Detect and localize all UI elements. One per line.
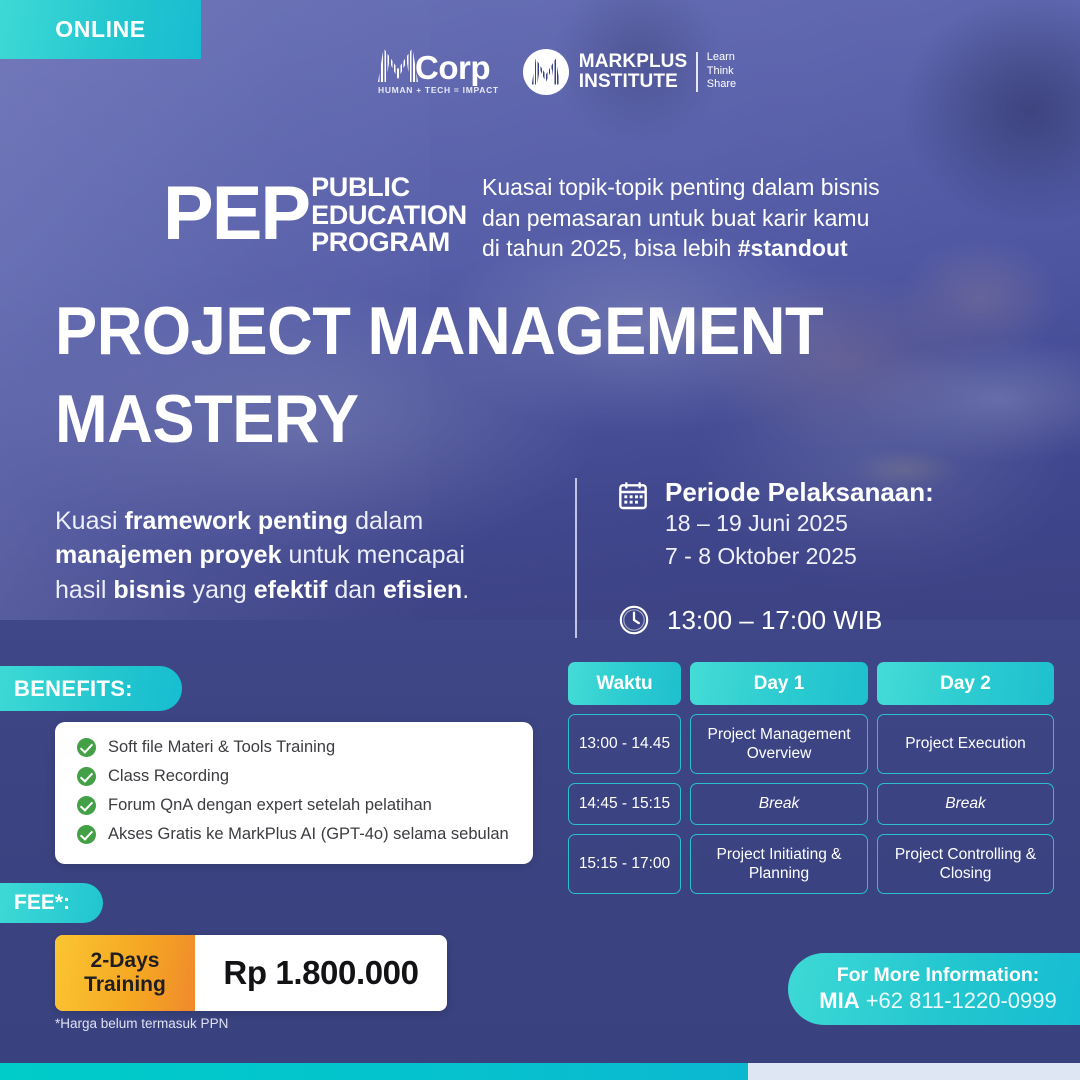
desc-bold-5: efisien [383, 576, 462, 604]
contact-pill[interactable]: For More Information: MIA +62 811-1220-0… [788, 953, 1080, 1025]
headline-tagline: Kuasai topik-topik penting dalam bisnis … [482, 172, 922, 264]
mcorp-logo: Corp HUMAN + TECH = IMPACT [378, 48, 499, 95]
cell-day1: Project Initiating & Planning [690, 834, 868, 894]
program-acronym-block: PEP PUBLIC EDUCATION PROGRAM [163, 172, 467, 257]
fee-price: Rp 1.800.000 [195, 935, 447, 1011]
markplus-value-2: Think [707, 65, 736, 78]
benefit-text: Forum QnA dengan expert setelah pelatiha… [108, 796, 432, 815]
cell-day2: Project Execution [877, 714, 1054, 774]
markplus-name-line1: MARKPLUS [579, 52, 687, 71]
mcorp-tagline: HUMAN + TECH = IMPACT [378, 85, 499, 95]
list-item: Akses Gratis ke MarkPlus AI (GPT-4o) sel… [77, 825, 515, 844]
cell-day1: Break [690, 783, 868, 825]
cell-day1: Project Management Overview [690, 714, 868, 774]
program-acronym: PEP [163, 183, 309, 245]
markplus-institute-logo: MARKPLUS INSTITUTE Learn Think Share [523, 49, 736, 95]
period-block: Periode Pelaksanaan: 18 – 19 Juni 2025 7… [575, 478, 1080, 637]
fee-duration-badge: 2-Days Training [55, 935, 195, 1011]
fee-card: 2-Days Training Rp 1.800.000 [55, 935, 447, 1011]
period-time: 13:00 – 17:00 WIB [667, 607, 882, 633]
program-expansion: PUBLIC EDUCATION PROGRAM [311, 174, 467, 257]
fee-label: FEE*: [14, 891, 70, 915]
markplus-badge-circle [523, 49, 569, 95]
tagline-line1: Kuasai topik-topik penting dalam bisnis [482, 172, 922, 203]
desc-part-1: Kuasi [55, 507, 124, 535]
program-expansion-line2: EDUCATION [311, 202, 467, 230]
markplus-value-3: Share [707, 78, 736, 91]
mcorp-wordmark: Corp [415, 54, 490, 82]
benefits-label-pill: BENEFITS: [0, 666, 182, 711]
fee-note: *Harga belum termasuk PPN [55, 1016, 228, 1031]
benefit-text: Akses Gratis ke MarkPlus AI (GPT-4o) sel… [108, 825, 509, 844]
cell-day2: Project Controlling & Closing [877, 834, 1054, 894]
table-header-day1: Day 1 [690, 662, 868, 705]
benefit-text: Class Recording [108, 767, 229, 786]
list-item: Soft file Materi & Tools Training [77, 738, 515, 757]
cell-day2: Break [877, 783, 1054, 825]
tagline-line3-text: di tahun 2025, bisa lebih [482, 235, 738, 261]
logo-divider [696, 52, 698, 92]
check-circle-icon [77, 738, 96, 757]
cell-time: 14:45 - 15:15 [568, 783, 681, 825]
calendar-icon [617, 480, 649, 512]
schedule-table: Waktu Day 1 Day 2 13:00 - 14.45 Project … [568, 662, 1048, 903]
table-header-waktu: Waktu [568, 662, 681, 705]
markplus-m-icon [532, 59, 560, 85]
desc-bold-3: bisnis [113, 576, 185, 604]
benefit-text: Soft file Materi & Tools Training [108, 738, 335, 757]
fee-label-pill: FEE*: [0, 883, 103, 923]
list-item: Class Recording [77, 767, 515, 786]
cell-time: 13:00 - 14.45 [568, 714, 681, 774]
check-circle-icon [77, 767, 96, 786]
poster-canvas: ONLINE Corp HUMAN + TECH = IMPACT MARKPL… [0, 0, 1080, 1080]
period-date-1: 18 – 19 Juni 2025 [665, 507, 934, 540]
page-title: PROJECT MANAGEMENT MASTERY [55, 287, 873, 464]
list-item: Forum QnA dengan expert setelah pelatiha… [77, 796, 515, 815]
desc-bold-4: efektif [254, 576, 328, 604]
table-row: 13:00 - 14.45 Project Management Overvie… [568, 714, 1048, 774]
online-badge: ONLINE [0, 0, 201, 59]
fee-duration-line2: Training [84, 973, 166, 997]
mcorp-m-icon [378, 48, 418, 82]
tagline-line2: dan pemasaran untuk buat karir kamu [482, 203, 922, 234]
bottom-bar-teal [0, 1063, 748, 1080]
period-heading: Periode Pelaksanaan: [665, 478, 934, 507]
desc-part-2: dalam [348, 507, 423, 535]
cell-time: 15:15 - 17:00 [568, 834, 681, 894]
logo-group: Corp HUMAN + TECH = IMPACT MARKPLUS INST… [378, 48, 736, 95]
benefits-label: BENEFITS: [14, 676, 133, 702]
program-expansion-line3: PROGRAM [311, 229, 467, 257]
contact-person: MIA [819, 988, 859, 1013]
clock-icon [617, 603, 651, 637]
desc-bold-2: manajemen proyek [55, 541, 282, 569]
contact-phone[interactable]: +62 811-1220-0999 [866, 988, 1057, 1013]
check-circle-icon [77, 825, 96, 844]
contact-line: MIA +62 811-1220-0999 [819, 987, 1057, 1015]
benefits-card: Soft file Materi & Tools Training Class … [55, 722, 533, 864]
period-date-2: 7 - 8 Oktober 2025 [665, 540, 934, 573]
bottom-bar-light [748, 1063, 1080, 1080]
online-badge-label: ONLINE [55, 16, 146, 43]
course-description: Kuasi framework penting dalam manajemen … [55, 504, 485, 607]
table-header-day2: Day 2 [877, 662, 1054, 705]
desc-part-4: yang [186, 576, 254, 604]
table-row: 14:45 - 15:15 Break Break [568, 783, 1048, 825]
markplus-name-line2: INSTITUTE [579, 72, 687, 91]
bottom-accent-bar [0, 1063, 1080, 1080]
desc-part-6: . [462, 576, 469, 604]
table-row: 15:15 - 17:00 Project Initiating & Plann… [568, 834, 1048, 894]
markplus-value-1: Learn [707, 51, 736, 64]
desc-bold-1: framework penting [124, 507, 348, 535]
tagline-line3: di tahun 2025, bisa lebih #standout [482, 233, 922, 264]
program-expansion-line1: PUBLIC [311, 174, 467, 202]
contact-heading: For More Information: [837, 963, 1040, 987]
desc-part-5: dan [327, 576, 383, 604]
tagline-hashtag: #standout [738, 235, 848, 261]
fee-duration-line1: 2-Days [91, 949, 160, 973]
check-circle-icon [77, 796, 96, 815]
table-header-row: Waktu Day 1 Day 2 [568, 662, 1048, 705]
